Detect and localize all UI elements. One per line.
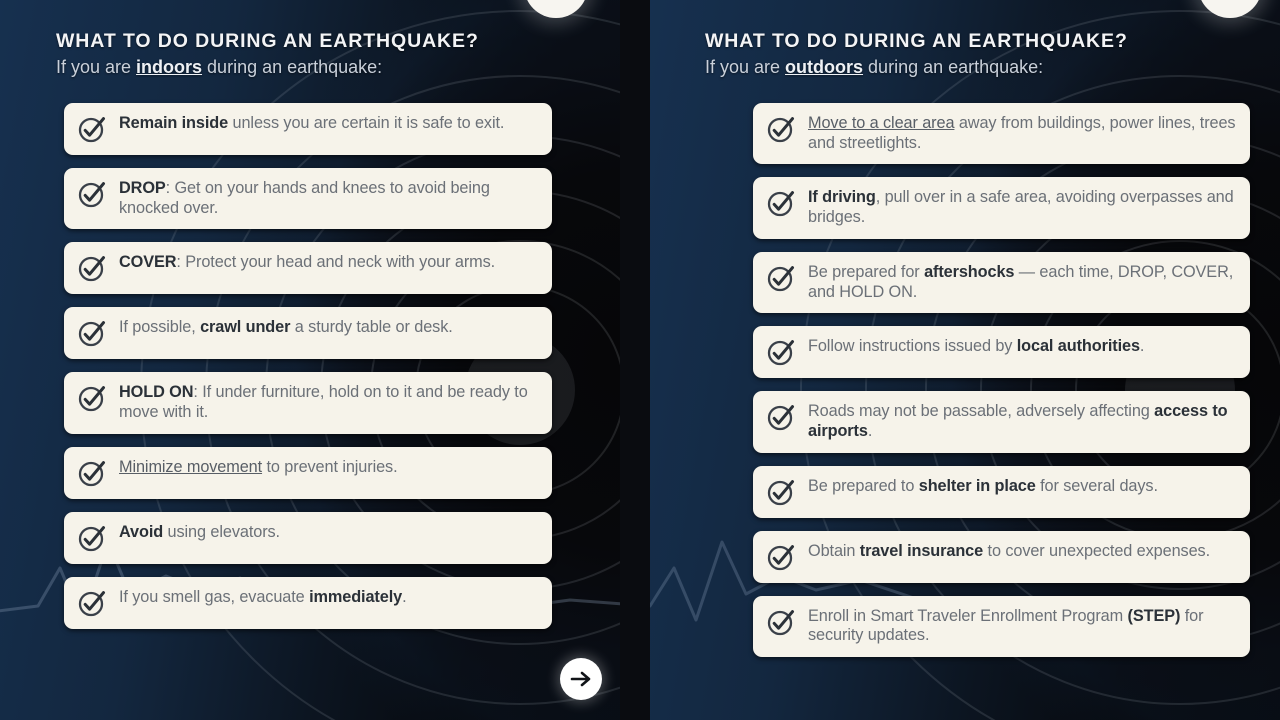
subtitle-prefix: If you are xyxy=(56,57,136,77)
check-circle-icon xyxy=(77,523,107,553)
subtitle-suffix: during an earthquake: xyxy=(202,57,382,77)
subtitle-emphasis: outdoors xyxy=(785,57,863,77)
checklist-item-text: COVER: Protect your head and neck with y… xyxy=(119,252,495,273)
check-circle-icon xyxy=(77,588,107,618)
text-emphasis: HOLD ON xyxy=(119,383,193,401)
text-tail: . xyxy=(1140,337,1144,355)
text-pre: Enroll in Smart Traveler Enrollment Prog… xyxy=(808,607,1128,625)
text-rest: to prevent injuries. xyxy=(262,458,397,476)
checklist-outdoors: Move to a clear area away from buildings… xyxy=(753,103,1250,670)
text-emphasis: Minimize movement xyxy=(119,458,262,476)
text-tail: . xyxy=(868,422,872,440)
text-pre: Obtain xyxy=(808,542,860,560)
checklist-item[interactable]: HOLD ON: If under furniture, hold on to … xyxy=(64,372,552,433)
check-circle-icon xyxy=(766,542,796,572)
subtitle-emphasis: indoors xyxy=(136,57,202,77)
checklist-item-text: Follow instructions issued by local auth… xyxy=(808,336,1144,357)
text-emphasis: crawl under xyxy=(200,318,290,336)
text-rest: for several days. xyxy=(1036,477,1158,495)
panel-divider xyxy=(620,0,650,720)
check-circle-icon xyxy=(766,337,796,367)
text-emphasis: If driving xyxy=(808,188,876,206)
check-circle-icon xyxy=(766,402,796,432)
checklist-item[interactable]: If driving, pull over in a safe area, av… xyxy=(753,177,1250,238)
checklist-item-text: If you smell gas, evacuate immediately. xyxy=(119,587,407,608)
text-emphasis: DROP xyxy=(119,179,166,197)
check-circle-icon xyxy=(766,188,796,218)
checklist-item[interactable]: DROP: Get on your hands and knees to avo… xyxy=(64,168,552,229)
checklist-item-text: DROP: Get on your hands and knees to avo… xyxy=(119,178,538,218)
checklist-item-text: If possible, crawl under a sturdy table … xyxy=(119,317,453,338)
text-pre: Be prepared to xyxy=(808,477,919,495)
text-rest: using elevators. xyxy=(163,523,280,541)
checklist-item[interactable]: If possible, crawl under a sturdy table … xyxy=(64,307,552,359)
text-rest: unless you are certain it is safe to exi… xyxy=(228,114,504,132)
arrow-right-icon xyxy=(569,667,593,691)
page-subtitle: If you are indoors during an earthquake: xyxy=(56,57,596,78)
checklist-item-text: Roads may not be passable, adversely aff… xyxy=(808,401,1236,441)
checklist-item-text: Be prepared to shelter in place for seve… xyxy=(808,476,1158,497)
subtitle-suffix: during an earthquake: xyxy=(863,57,1043,77)
checklist-item[interactable]: Roads may not be passable, adversely aff… xyxy=(753,391,1250,452)
checklist-item-text: Obtain travel insurance to cover unexpec… xyxy=(808,541,1210,562)
panel-heading-outdoors: WHAT TO DO DURING AN EARTHQUAKE? If you … xyxy=(705,30,1235,78)
check-circle-icon xyxy=(77,253,107,283)
checklist-item[interactable]: Minimize movement to prevent injuries. xyxy=(64,447,552,499)
checklist-item[interactable]: If you smell gas, evacuate immediately. xyxy=(64,577,552,629)
checklist-item-text: Remain inside unless you are certain it … xyxy=(119,113,504,134)
check-circle-icon xyxy=(766,477,796,507)
next-button[interactable] xyxy=(560,658,602,700)
checklist-item[interactable]: Enroll in Smart Traveler Enrollment Prog… xyxy=(753,596,1250,657)
check-circle-icon xyxy=(77,318,107,348)
text-pre: Follow instructions issued by xyxy=(808,337,1017,355)
checklist-item-text: HOLD ON: If under furniture, hold on to … xyxy=(119,382,538,422)
text-emphasis: Remain inside xyxy=(119,114,228,132)
page-subtitle: If you are outdoors during an earthquake… xyxy=(705,57,1235,78)
text-pre: Be prepared for xyxy=(808,263,924,281)
top-circle-decoration xyxy=(524,0,588,18)
text-rest: : Protect your head and neck with your a… xyxy=(176,253,495,271)
text-pre: Roads may not be passable, adversely aff… xyxy=(808,402,1154,420)
checklist-item-text: Avoid using elevators. xyxy=(119,522,280,543)
checklist-item-text: Minimize movement to prevent injuries. xyxy=(119,457,398,478)
checklist-item[interactable]: Obtain travel insurance to cover unexpec… xyxy=(753,531,1250,583)
checklist-item-text: If driving, pull over in a safe area, av… xyxy=(808,187,1236,227)
infographic-root: WHAT TO DO DURING AN EARTHQUAKE? If you … xyxy=(0,0,1280,720)
text-emphasis: local authorities xyxy=(1017,337,1140,355)
text-emphasis: shelter in place xyxy=(919,477,1036,495)
check-circle-icon xyxy=(766,114,796,144)
checklist-item-text: Be prepared for aftershocks — each time,… xyxy=(808,262,1236,302)
text-emphasis: immediately xyxy=(309,588,402,606)
subtitle-prefix: If you are xyxy=(705,57,785,77)
check-circle-icon xyxy=(77,458,107,488)
checklist-item[interactable]: COVER: Protect your head and neck with y… xyxy=(64,242,552,294)
text-emphasis: Avoid xyxy=(119,523,163,541)
checklist-item[interactable]: Avoid using elevators. xyxy=(64,512,552,564)
check-circle-icon xyxy=(766,263,796,293)
panel-outdoors: WHAT TO DO DURING AN EARTHQUAKE? If you … xyxy=(650,0,1280,720)
text-rest: : Get on your hands and knees to avoid b… xyxy=(119,179,490,217)
text-emphasis: (STEP) xyxy=(1128,607,1181,625)
panel-heading-indoors: WHAT TO DO DURING AN EARTHQUAKE? If you … xyxy=(56,30,596,78)
checklist-item-text: Enroll in Smart Traveler Enrollment Prog… xyxy=(808,606,1236,646)
check-circle-icon xyxy=(766,607,796,637)
text-emphasis: travel insurance xyxy=(860,542,983,560)
check-circle-icon xyxy=(77,383,107,413)
checklist-item[interactable]: Be prepared for aftershocks — each time,… xyxy=(753,252,1250,313)
checklist-item[interactable]: Follow instructions issued by local auth… xyxy=(753,326,1250,378)
text-rest: to cover unexpected expenses. xyxy=(983,542,1210,560)
top-circle-decoration xyxy=(1198,0,1262,18)
panel-indoors: WHAT TO DO DURING AN EARTHQUAKE? If you … xyxy=(0,0,620,720)
text-rest: a sturdy table or desk. xyxy=(290,318,452,336)
page-title: WHAT TO DO DURING AN EARTHQUAKE? xyxy=(56,30,596,53)
text-pre: If possible, xyxy=(119,318,200,336)
checklist-item[interactable]: Move to a clear area away from buildings… xyxy=(753,103,1250,164)
text-tail: . xyxy=(402,588,406,606)
checklist-item[interactable]: Remain inside unless you are certain it … xyxy=(64,103,552,155)
text-emphasis: aftershocks xyxy=(924,263,1014,281)
checklist-item-text: Move to a clear area away from buildings… xyxy=(808,113,1236,153)
check-circle-icon xyxy=(77,114,107,144)
text-emphasis: Move to a clear area xyxy=(808,114,954,132)
check-circle-icon xyxy=(77,179,107,209)
page-title: WHAT TO DO DURING AN EARTHQUAKE? xyxy=(705,30,1235,53)
checklist-indoors: Remain inside unless you are certain it … xyxy=(64,103,552,642)
checklist-item[interactable]: Be prepared to shelter in place for seve… xyxy=(753,466,1250,518)
text-emphasis: COVER xyxy=(119,253,176,271)
text-pre: If you smell gas, evacuate xyxy=(119,588,309,606)
